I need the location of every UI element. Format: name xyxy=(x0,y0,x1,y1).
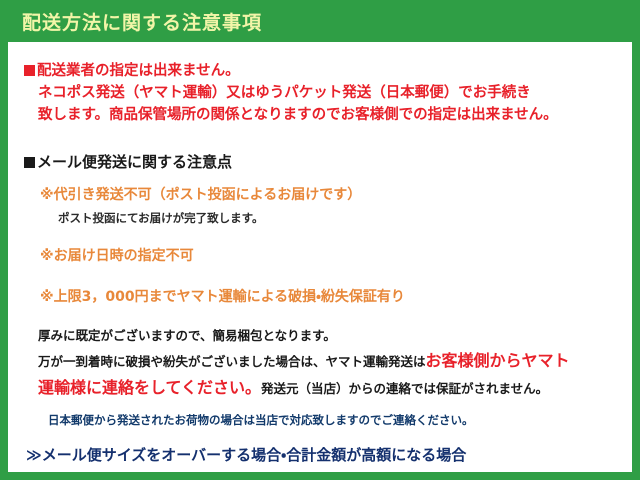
mail-note-cod-sub: ポスト投函にてお届けが完了致します。 xyxy=(20,210,622,226)
square-bullet-icon xyxy=(24,157,35,168)
section-oversize-heading: ≫メール便サイズをオーバーする場合・合計金額が高額になる場合 xyxy=(20,445,622,466)
mail-note-compensation: ※上限3，000円までヤマト運輸による破損・紛失保証有り xyxy=(20,287,622,307)
japan-post-note: 日本郵便から発送されたお荷物の場合は当店で対応致しますのでご連絡ください。 xyxy=(20,412,622,428)
claims-line-3-black: 発送元（当店）からの連絡では保証がされません。 xyxy=(261,381,548,396)
section-mail-heading: メール便発送に関する注意点 xyxy=(20,152,622,173)
page-title: 配送方法に関する注意事項 xyxy=(22,8,262,35)
mail-note-no-datetime: ※お届け日時の指定不可 xyxy=(20,246,622,266)
shipping-notice-card: 配送方法に関する注意事項 配送業者の指定は出来ません。 ネコポス発送（ヤマト運輸… xyxy=(0,0,640,480)
claims-line-2-red: お客様側からヤマト xyxy=(426,351,570,370)
carrier-line-3: 致します。商品保管場所の関係となりますのでお客様側での指定は出来ません。 xyxy=(24,104,622,126)
carrier-heading-line: 配送業者の指定は出来ません。 xyxy=(24,60,622,82)
claims-line-2: 万が一到着時に破損や紛失がございました場合は、ヤマト運輸発送はお客様側からヤマト xyxy=(38,347,622,375)
mail-claims-paragraph: 厚みに既定がございますので、簡易梱包となります。 万が一到着時に破損や紛失がござ… xyxy=(20,325,622,402)
square-bullet-icon xyxy=(24,65,35,76)
notice-body-panel: 配送業者の指定は出来ません。 ネコポス発送（ヤマト運輸）又はゆうパケット発送（日… xyxy=(8,42,632,472)
section-carrier-designation: 配送業者の指定は出来ません。 ネコポス発送（ヤマト運輸）又はゆうパケット発送（日… xyxy=(20,60,622,126)
carrier-heading-text: 配送業者の指定は出来ません。 xyxy=(37,63,240,79)
oversize-heading-text: メール便サイズをオーバーする場合・合計金額が高額になる場合 xyxy=(42,446,467,464)
claims-line-3-red: 運輸様に連絡をしてください。 xyxy=(38,378,261,397)
notice-header-bar: 配送方法に関する注意事項 xyxy=(0,0,640,42)
claims-line-2-black: 万が一到着時に破損や紛失がございました場合は、ヤマト運輸発送は xyxy=(38,354,426,369)
mail-heading-text: メール便発送に関する注意点 xyxy=(37,153,232,171)
claims-line-3: 運輸様に連絡をしてください。発送元（当店）からの連絡では保証がされません。 xyxy=(38,374,622,402)
carrier-line-2: ネコポス発送（ヤマト運輸）又はゆうパケット発送（日本郵便）でお手続き xyxy=(24,82,622,104)
claims-line-1: 厚みに既定がございますので、簡易梱包となります。 xyxy=(38,325,622,347)
mail-note-cod: ※代引き発送不可（ポスト投函によるお届けです） xyxy=(20,185,622,205)
double-chevron-right-icon: ≫ xyxy=(26,446,41,464)
